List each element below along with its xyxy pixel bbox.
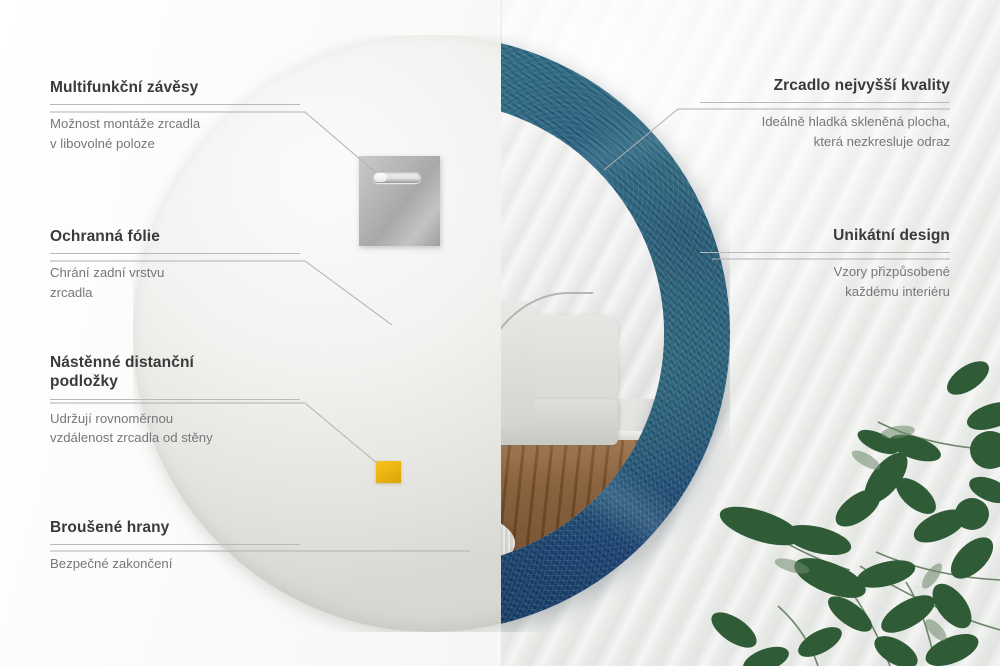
callout-unikatni-design: Unikátní design Vzory přizpůsobené každé…	[700, 226, 950, 301]
callout-ochranna-folie: Ochranná fólie Chrání zadní vrstvu zrcad…	[50, 227, 300, 302]
callout-rule	[50, 544, 300, 545]
callout-rule	[700, 252, 950, 253]
callout-rule	[50, 104, 300, 105]
callout-body: Udržují rovnoměrnou vzdálenost zrcadla o…	[50, 409, 300, 447]
callout-title: Zrcadlo nejvyšší kvality	[700, 76, 950, 95]
infographic-canvas: Multifunkční závěsy Možnost montáže zrca…	[0, 0, 1000, 666]
callout-body-line: Bezpečné zakončení	[50, 554, 300, 573]
callout-body-line: každému interiéru	[700, 282, 950, 301]
callout-body-line: v libovolné poloze	[50, 134, 300, 153]
callout-title: Unikátní design	[700, 226, 950, 245]
callout-body: Ideálně hladká skleněná plocha, která ne…	[700, 112, 950, 150]
callout-multifunkcni-zavesy: Multifunkční závěsy Možnost montáže zrca…	[50, 78, 300, 153]
callout-nastenne-distancni-podlozky: Nástěnné distanční podložky Udržují rovn…	[50, 353, 300, 447]
callout-body-line: Ideálně hladká skleněná plocha,	[700, 112, 950, 131]
callout-body-line: Udržují rovnoměrnou	[50, 409, 300, 428]
callout-body-line: Vzory přizpůsobené	[700, 262, 950, 281]
callout-brousene-hrany: Broušené hrany Bezpečné zakončení	[50, 518, 300, 574]
green-leaf-branches	[700, 330, 1000, 666]
callout-body-line: Chrání zadní vrstvu	[50, 263, 300, 282]
callout-body-line: vzdálenost zrcadla od stěny	[50, 428, 300, 447]
callout-body: Chrání zadní vrstvu zrcadla	[50, 263, 300, 301]
callout-title: Multifunkční závěsy	[50, 78, 300, 97]
callout-body-line: Možnost montáže zrcadla	[50, 114, 300, 133]
callout-body: Možnost montáže zrcadla v libovolné polo…	[50, 114, 300, 152]
callout-title-line: Nástěnné distanční	[50, 353, 300, 372]
callout-body-line: zrcadla	[50, 283, 300, 302]
callout-zrcadlo-nejvyssi-kvality: Zrcadlo nejvyšší kvality Ideálně hladká …	[700, 76, 950, 151]
callout-rule	[50, 399, 300, 400]
callout-title: Ochranná fólie	[50, 227, 300, 246]
callout-body: Vzory přizpůsobené každému interiéru	[700, 262, 950, 300]
callout-rule	[700, 102, 950, 103]
callout-body: Bezpečné zakončení	[50, 554, 300, 573]
callout-body-line: která nezkresluje odraz	[700, 132, 950, 151]
callout-rule	[50, 253, 300, 254]
callout-title: Broušené hrany	[50, 518, 300, 537]
callout-title-line: podložky	[50, 372, 300, 391]
callout-title: Nástěnné distanční podložky	[50, 353, 300, 392]
